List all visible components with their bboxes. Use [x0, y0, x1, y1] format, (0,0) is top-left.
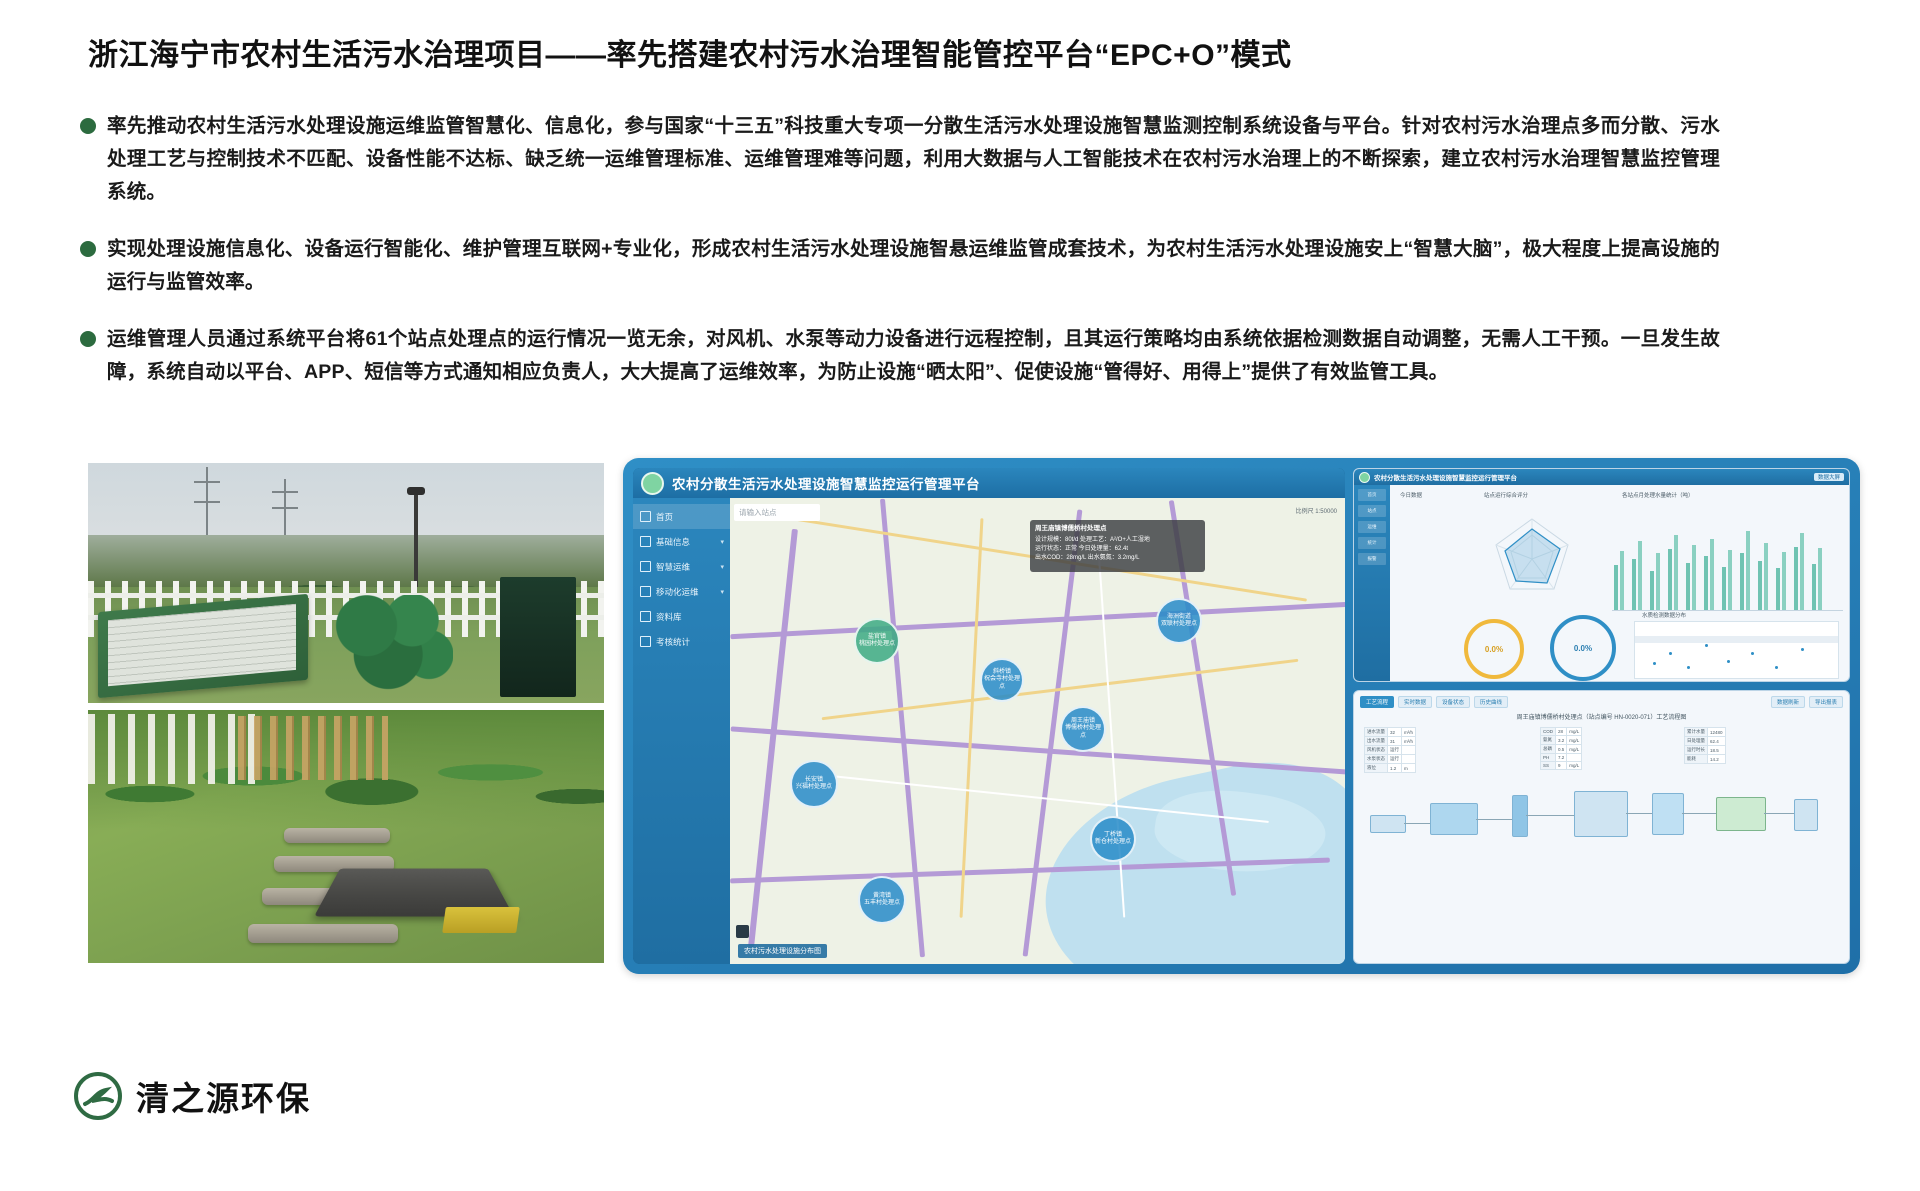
- tab-realtime-data[interactable]: 实时数据: [1398, 696, 1432, 708]
- list-item: 运维管理人员通过系统平台将61个站点处理点的运行情况一览无余，对风机、水泵等动力…: [80, 323, 1720, 389]
- realtime-table-mid: COD 28 mg/L 氨氮 3.2 mg/L 总磷 0.5 mg/L PH 7…: [1540, 727, 1582, 770]
- sidebar-item-smart-ops[interactable]: 智慧运维 ▾: [633, 554, 730, 579]
- yellow-marker-plate: [442, 907, 520, 933]
- bamboo-fence: [238, 716, 388, 780]
- table-cell: 日处理量: [1685, 737, 1708, 746]
- bullet-dot-icon: [80, 118, 96, 134]
- mobile-icon: [640, 586, 651, 597]
- sidebar-item-basic-info[interactable]: 基础信息 ▾: [633, 529, 730, 554]
- sub-label: 今日数据: [1400, 491, 1422, 499]
- sidebar-item-assessment[interactable]: 考核统计: [633, 629, 730, 654]
- sidebar-item-sites[interactable]: 站点: [1358, 505, 1386, 517]
- photo-column: [88, 463, 604, 963]
- map-tooltip: 周王庙镇博儒桥村处理点 设计规模：80t/d 处理工艺：A²/O+人工湿地 运行…: [1030, 520, 1205, 572]
- flow-stage-wetland: [1716, 797, 1766, 831]
- table-cell: 累计水量: [1685, 728, 1708, 737]
- bullet-dot-icon: [80, 241, 96, 257]
- table-cell: 总磷: [1541, 745, 1556, 754]
- table-cell: mg/L: [1567, 728, 1582, 736]
- table-cell: mg/L: [1567, 762, 1582, 770]
- company-name: 清之源环保: [136, 1072, 311, 1120]
- realtime-table-left: 进水流量 32 m³/h 出水流量 31 m³/h 风机状态 运行 水泵状态 运…: [1364, 727, 1416, 773]
- sidebar-item-label: 移动化运维: [656, 586, 699, 598]
- platform-screenshot: 农村分散生活污水处理设施智慧监控运行管理平台 首页 基础信息 ▾ 智慧运维 ▾: [623, 458, 1860, 974]
- map-scale-label: 比例尺 1:50000: [1296, 506, 1337, 515]
- refresh-button[interactable]: 数据刷新: [1771, 696, 1805, 708]
- map-legend: 农村污水处理设施分布图: [738, 944, 827, 958]
- tooltip-line: 设计规模：80t/d 处理工艺：A²/O+人工湿地: [1035, 536, 1200, 545]
- map-sidebar: 首页 基础信息 ▾ 智慧运维 ▾ 移动化运维 ▾: [633, 498, 730, 964]
- map-pin[interactable]: 长安镇 兴福村处理点: [790, 760, 838, 808]
- tab-history-curve[interactable]: 历史曲线: [1474, 696, 1508, 708]
- flow-connector: [1764, 813, 1794, 814]
- sidebar-item-ops[interactable]: 运维: [1358, 521, 1386, 533]
- app-logo-icon: [641, 472, 664, 495]
- stats-card-sidebar: 首页 站点 运维 统计 报警: [1354, 485, 1390, 681]
- table-cell: 0.5: [1556, 745, 1567, 754]
- road: [748, 529, 798, 947]
- sidebar-item-home[interactable]: 首页: [633, 504, 730, 529]
- table-cell: 12480: [1708, 728, 1726, 737]
- site-photo-top: [88, 463, 604, 703]
- table-cell: [1402, 755, 1416, 764]
- list-item: 率先推动农村生活污水处理设施运维监管智慧化、信息化，参与国家“十三五”科技重大专…: [80, 110, 1720, 209]
- table-cell: [1567, 754, 1582, 762]
- page-title: 浙江海宁市农村生活污水治理项目——率先搭建农村污水治理智能管控平台“EPC+O”…: [88, 30, 1292, 74]
- flow-stage-anoxic: [1574, 791, 1628, 837]
- sidebar-item-label: 基础信息: [656, 536, 690, 548]
- tooltip-line: 出水COD：28mg/L 出水氨氮：3.2mg/L: [1035, 554, 1200, 563]
- table-cell: 运行: [1388, 746, 1402, 755]
- stepping-stone: [248, 924, 398, 943]
- site-photo-bottom: [88, 710, 604, 963]
- chevron-down-icon: ▾: [720, 538, 724, 546]
- bullet-text: 率先推动农村生活污水处理设施运维监管智慧化、信息化，参与国家“十三五”科技重大专…: [107, 110, 1720, 209]
- table-cell: m: [1402, 764, 1416, 773]
- map-pin[interactable]: 海洲街道 双联村处理点: [1156, 598, 1202, 644]
- stepping-stone: [284, 828, 390, 843]
- radar-chart: [1472, 507, 1592, 611]
- sidebar-item-label: 考核统计: [656, 636, 690, 648]
- table-cell: 能耗: [1685, 755, 1708, 764]
- table-cell: 9: [1556, 762, 1567, 770]
- flow-connector: [1404, 823, 1430, 824]
- radar-chart-title: 站点运行综合评分: [1484, 491, 1528, 499]
- flow-stage-aeration: [1652, 793, 1684, 835]
- tooltip-title: 周王庙镇博儒桥村处理点: [1035, 524, 1200, 534]
- flow-stage-screen: [1370, 815, 1406, 833]
- table-cell: m³/h: [1402, 737, 1416, 746]
- table-cell: mg/L: [1567, 745, 1582, 754]
- sidebar-item-label: 资料库: [656, 611, 682, 623]
- information-signboard: [98, 594, 308, 698]
- table-cell: 氨氮: [1541, 736, 1556, 745]
- tooltip-line: 运行状态：正常 今日处理量：62.4t: [1035, 545, 1200, 554]
- stats-card-titlebar: 农村分散生活污水处理设施智慧监控运行管理平台 数据大屏: [1354, 469, 1849, 485]
- table-cell: 运行时长: [1685, 746, 1708, 755]
- chevron-down-icon: ▾: [720, 588, 724, 596]
- search-input[interactable]: 请输入站点: [734, 504, 820, 521]
- sidebar-item-stats[interactable]: 统计: [1358, 537, 1386, 549]
- map-app-titlebar: 农村分散生活污水处理设施智慧监控运行管理平台: [633, 468, 1345, 498]
- table-cell: 18.5: [1708, 746, 1726, 755]
- layer-toggle-icon[interactable]: [736, 925, 749, 938]
- map-pin[interactable]: 盐官镇 桃园村处理点: [854, 618, 900, 664]
- process-flow-card: 工艺流程 实时数据 设备状态 历史曲线 数据刷新 导出报表 周王庙镇博儒桥村处理…: [1353, 690, 1850, 964]
- realtime-table-right: 累计水量 12480 日处理量 62.4 运行时长 18.5 能耗 14.2: [1684, 727, 1726, 764]
- shrub: [333, 595, 453, 691]
- table-cell: mg/L: [1567, 736, 1582, 745]
- table-cell: 进水流量: [1365, 728, 1388, 737]
- sidebar-item-alarms[interactable]: 报警: [1358, 553, 1386, 565]
- bar-chart: [1612, 507, 1843, 611]
- flow-connector: [1626, 813, 1652, 814]
- bullet-dot-icon: [80, 331, 96, 347]
- bullet-text: 实现处理设施信息化、设备运行智能化、维护管理互联网+专业化，形成农村生活污水处理…: [107, 233, 1720, 299]
- tab-process-flow[interactable]: 工艺流程: [1360, 696, 1394, 708]
- map-pin[interactable]: 周王庙镇 博儒桥村处理点: [1060, 706, 1106, 752]
- flow-connector: [1476, 819, 1512, 820]
- scatter-chart: [1634, 621, 1839, 679]
- table-cell: 32: [1388, 728, 1402, 737]
- list-item: 实现处理设施信息化、设备运行智能化、维护管理互联网+专业化，形成农村生活污水处理…: [80, 233, 1720, 299]
- table-cell: 3.2: [1556, 736, 1567, 745]
- company-logo: 清之源环保: [72, 1070, 311, 1122]
- table-cell: 31: [1388, 737, 1402, 746]
- table-cell: COD: [1541, 728, 1556, 736]
- flow-card-tabs: 工艺流程 实时数据 设备状态 历史曲线 数据刷新 导出报表: [1354, 691, 1849, 708]
- map-pin[interactable]: 斜桥镇 祝会寺村处理点: [980, 658, 1024, 702]
- folder-icon: [640, 611, 651, 622]
- stats-card-title: 农村分散生活污水处理设施智慧监控运行管理平台: [1374, 472, 1517, 482]
- app-logo-icon: [1359, 472, 1370, 483]
- gauge-fault-rate: 0.0%: [1464, 619, 1524, 679]
- table-cell: 62.4: [1708, 737, 1726, 746]
- signboard-panel: [108, 604, 296, 686]
- sidebar-item-label: 首页: [656, 511, 673, 523]
- chevron-down-icon: ▾: [720, 563, 724, 571]
- table-cell: 水泵状态: [1365, 755, 1388, 764]
- table-cell: 风机状态: [1365, 746, 1388, 755]
- table-cell: 出水流量: [1365, 737, 1388, 746]
- bullet-list: 率先推动农村生活污水处理设施运维监管智慧化、信息化，参与国家“十三五”科技重大专…: [80, 110, 1720, 413]
- map-app-window: 农村分散生活污水处理设施智慧监控运行管理平台 首页 基础信息 ▾ 智慧运维 ▾: [633, 468, 1345, 964]
- flow-stage-outlet: [1794, 799, 1818, 831]
- table-cell: 运行: [1388, 755, 1402, 764]
- table-cell: SS: [1541, 762, 1556, 770]
- radar-chart-svg: [1472, 507, 1592, 611]
- gauge-exceed-rate: 0.0%: [1550, 615, 1616, 681]
- map-pin[interactable]: 黄湾镇 五丰村处理点: [858, 876, 906, 924]
- table-cell: 14.2: [1708, 755, 1726, 764]
- sidebar-item-library[interactable]: 资料库: [633, 604, 730, 629]
- dark-signboard: [500, 577, 576, 697]
- scatter-chart-title: 水质检测数据分布: [1642, 611, 1686, 619]
- home-icon: [640, 511, 651, 522]
- road: [730, 602, 1345, 639]
- bullet-text: 运维管理人员通过系统平台将61个站点处理点的运行情况一览无余，对风机、水泵等动力…: [107, 323, 1720, 389]
- table-cell: [1402, 746, 1416, 755]
- table-cell: 1.2: [1388, 764, 1402, 773]
- flow-stage-pump: [1512, 795, 1528, 837]
- flow-diagram-title: 周王庙镇博儒桥村处理点（站点编号 HN-0020-071）工艺流程图: [1354, 712, 1849, 721]
- flow-connector: [1526, 815, 1574, 816]
- table-cell: m³/h: [1402, 728, 1416, 737]
- gear-icon: [640, 561, 651, 572]
- map-app-title: 农村分散生活污水处理设施智慧监控运行管理平台: [672, 473, 980, 493]
- export-button[interactable]: 导出报表: [1809, 696, 1843, 708]
- tab-device-status[interactable]: 设备状态: [1436, 696, 1470, 708]
- sidebar-item-home[interactable]: 首页: [1358, 489, 1386, 501]
- table-cell: 28: [1556, 728, 1567, 736]
- flow-stage-equalization: [1430, 803, 1478, 835]
- chart-icon: [640, 636, 651, 647]
- map-pin[interactable]: 丁桥镇 新仓村处理点: [1090, 816, 1136, 862]
- table-cell: 液位: [1365, 764, 1388, 773]
- stats-dashboard-card: 农村分散生活污水处理设施智慧监控运行管理平台 数据大屏 首页 站点 运维 统计 …: [1353, 468, 1850, 682]
- sidebar-item-label: 智慧运维: [656, 561, 690, 573]
- bar-chart-title: 各站点月处理水量统计（吨）: [1622, 491, 1694, 499]
- table-cell: 7.2: [1556, 754, 1567, 762]
- layers-icon: [640, 536, 651, 547]
- map-canvas[interactable]: 盐官镇 桃园村处理点 斜桥镇 祝会寺村处理点 周王庙镇 博儒桥村处理点 海洲街道…: [730, 498, 1345, 964]
- sidebar-item-mobile-ops[interactable]: 移动化运维 ▾: [633, 579, 730, 604]
- flow-connector: [1682, 813, 1716, 814]
- qzy-leaf-logo-icon: [72, 1070, 124, 1122]
- table-cell: PH: [1541, 754, 1556, 762]
- road: [960, 518, 984, 918]
- status-badge: 数据大屏: [1814, 473, 1844, 481]
